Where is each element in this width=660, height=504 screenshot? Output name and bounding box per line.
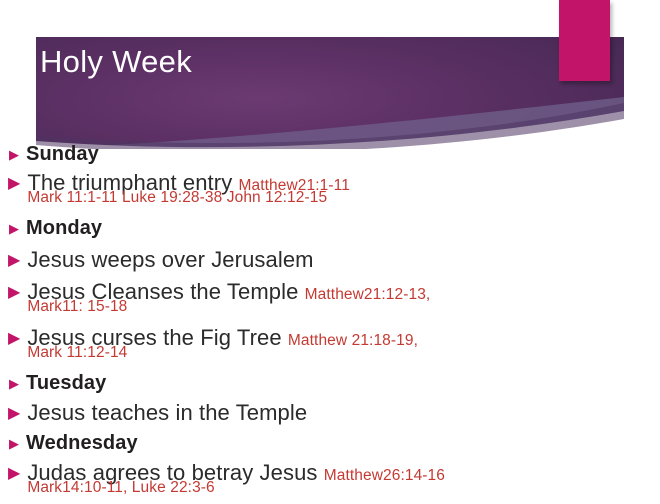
triangle-bullet-icon: ▶	[9, 377, 19, 390]
triangle-bullet-icon: ▶	[9, 437, 19, 450]
bullet-list: ▶ Sunday ▶ The triumphant entry Matthew2…	[0, 143, 660, 504]
list-item-content: Jesus weeps over Jerusalem	[27, 247, 660, 273]
triangle-bullet-icon: ▶	[8, 285, 20, 301]
triangle-bullet-icon: ▶	[8, 253, 20, 269]
main-line: Tuesday	[26, 372, 660, 395]
triangle-bullet-icon: ▶	[9, 148, 19, 161]
list-item-content: Monday	[26, 217, 660, 240]
list-item-jesus-weeps[interactable]: ▶ Jesus weeps over Jerusalem	[0, 247, 660, 279]
list-item-content: The triumphant entry Matthew21:1-11 Mark…	[27, 170, 660, 207]
list-item-content: Tuesday	[26, 372, 660, 395]
list-item-curses-fig-tree[interactable]: ▶ Jesus curses the Fig Tree Matthew 21:1…	[0, 325, 660, 372]
main-line: Monday	[26, 217, 660, 240]
list-item-content: Jesus Cleanses the Temple Matthew21:12-1…	[27, 279, 660, 316]
list-item-jesus-teaches[interactable]: ▶ Jesus teaches in the Temple	[0, 400, 660, 432]
pink-accent-block	[559, 0, 610, 81]
list-item-content: Sunday	[26, 143, 660, 166]
scripture-reference: Matthew26:14-16	[324, 467, 445, 484]
list-item-content: Jesus teaches in the Temple	[27, 400, 660, 426]
event-label: Jesus teaches in the Temple	[27, 400, 307, 425]
main-line: Jesus weeps over Jerusalem	[27, 247, 660, 273]
day-heading-label: Wednesday	[26, 432, 138, 454]
list-item-wednesday[interactable]: ▶ Wednesday	[0, 432, 660, 460]
event-label: Jesus weeps over Jerusalem	[27, 247, 313, 272]
triangle-bullet-icon: ▶	[8, 331, 20, 347]
list-item-sunday[interactable]: ▶ Sunday	[0, 143, 660, 170]
day-heading-label: Tuesday	[26, 372, 106, 394]
list-item-monday[interactable]: ▶ Monday	[0, 217, 660, 247]
day-heading-label: Sunday	[26, 143, 99, 165]
triangle-bullet-icon: ▶	[8, 406, 20, 422]
triangle-bullet-icon: ▶	[8, 466, 20, 482]
day-heading-label: Monday	[26, 217, 102, 239]
list-item-cleanses-temple[interactable]: ▶ Jesus Cleanses the Temple Matthew21:12…	[0, 279, 660, 325]
triangle-bullet-icon: ▶	[9, 222, 19, 235]
triangle-bullet-icon: ▶	[8, 176, 20, 192]
main-line: Wednesday	[26, 432, 660, 455]
list-item-content: Judas agrees to betray Jesus Matthew26:1…	[27, 460, 660, 497]
scripture-reference: Matthew 21:18-19,	[288, 332, 418, 349]
main-line: Jesus teaches in the Temple	[27, 400, 660, 426]
list-item-content: Wednesday	[26, 432, 660, 455]
scripture-reference: Matthew21:12-13,	[305, 286, 431, 303]
main-line: Sunday	[26, 143, 660, 166]
list-item-tuesday[interactable]: ▶ Tuesday	[0, 372, 660, 400]
page-title: Holy Week	[40, 43, 192, 80]
list-item-judas-betrays[interactable]: ▶ Judas agrees to betray Jesus Matthew26…	[0, 460, 660, 504]
list-item-content: Jesus curses the Fig Tree Matthew 21:18-…	[27, 325, 660, 362]
list-item-triumphant-entry[interactable]: ▶ The triumphant entry Matthew21:1-11 Ma…	[0, 170, 660, 217]
